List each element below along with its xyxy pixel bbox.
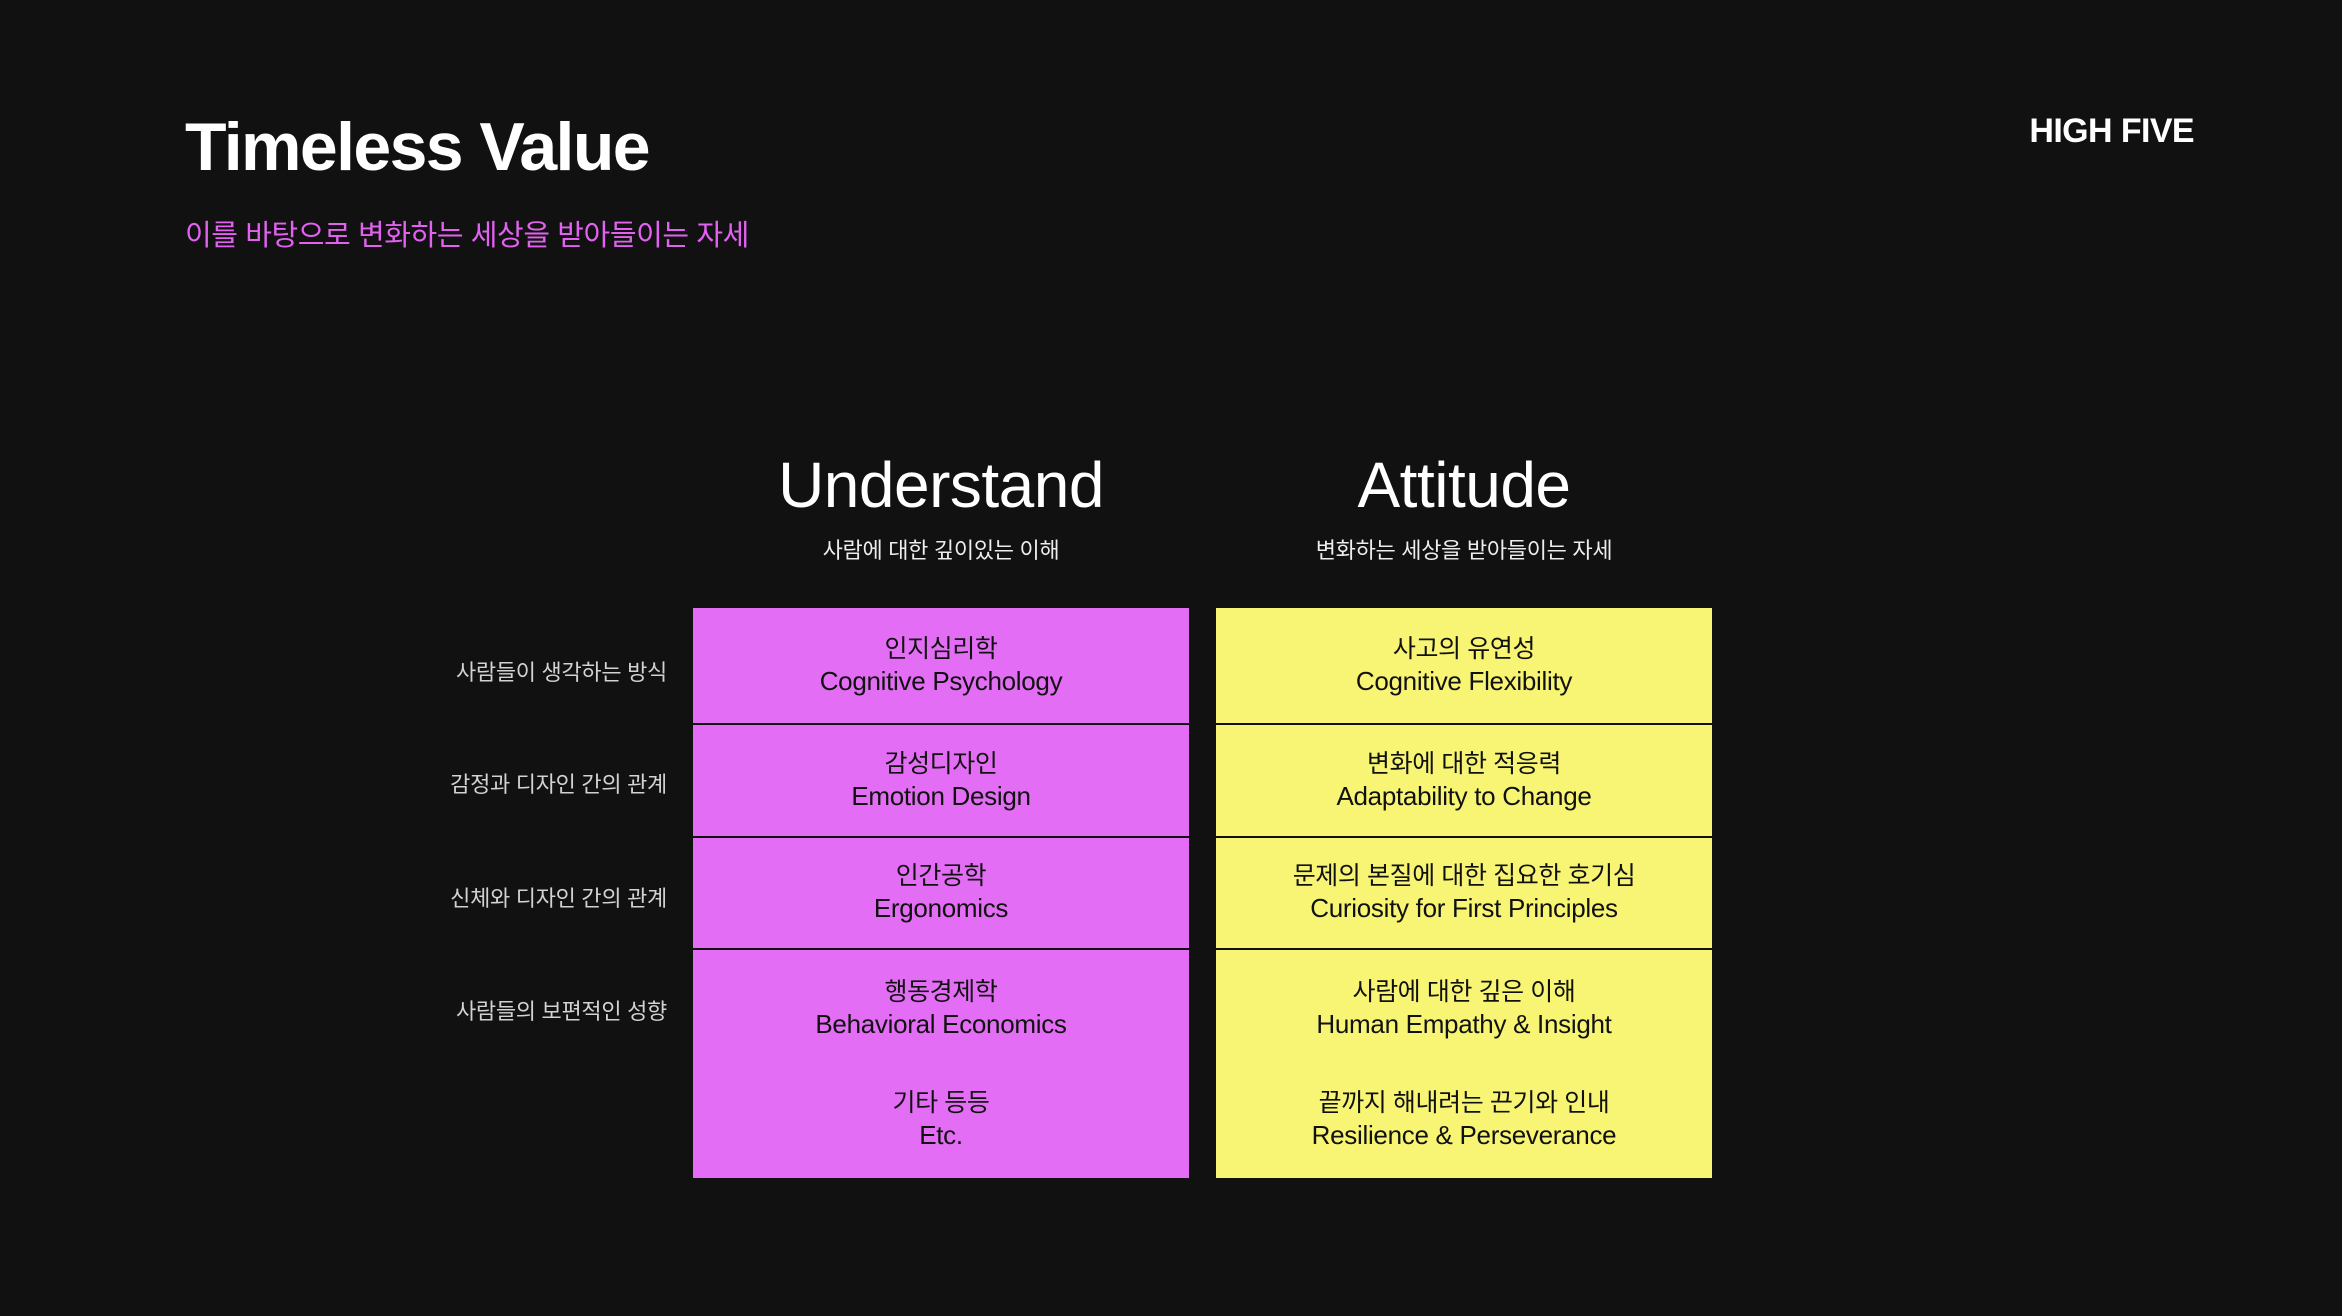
column-subtitle: 변화하는 세상을 받아들이는 자세 (1216, 533, 1712, 565)
cell-entry-korean: 문제의 본질에 대한 집요한 호기심 (1293, 860, 1636, 892)
matrix-cell[interactable]: 변화에 대한 적응력Adaptability to Change (1216, 725, 1712, 838)
cell-entry: 행동경제학Behavioral Economics (815, 976, 1066, 1041)
cell-entry-english: Etc. (893, 1119, 990, 1152)
cell-entry-korean: 감성디자인 (851, 748, 1030, 780)
cell-entry-korean: 인간공학 (874, 860, 1008, 892)
column-header-attitude: Attitude변화하는 세상을 받아들이는 자세 (1216, 452, 1712, 565)
row-label-2: 신체와 디자인 간의 관계 (450, 881, 667, 913)
cell-entry-english: Cognitive Psychology (820, 665, 1063, 698)
cell-entry: 끝까지 해내려는 끈기와 인내Resilience & Perseverance (1312, 1087, 1617, 1152)
cell-entry: 인간공학Ergonomics (874, 860, 1008, 925)
cell-entry: 기타 등등Etc. (893, 1087, 990, 1152)
cell-entry-english: Ergonomics (874, 892, 1008, 925)
cell-entry-korean: 끝까지 해내려는 끈기와 인내 (1312, 1087, 1617, 1119)
cell-entry-english: Adaptability to Change (1336, 780, 1591, 813)
cell-entry-english: Human Empathy & Insight (1316, 1008, 1611, 1041)
column-title: Attitude (1216, 452, 1712, 519)
matrix-cell[interactable]: 사람에 대한 깊은 이해Human Empathy & Insight끝까지 해… (1216, 950, 1712, 1178)
cell-entry-english: Emotion Design (851, 780, 1030, 813)
column-title: Understand (693, 452, 1189, 519)
cell-entry: 문제의 본질에 대한 집요한 호기심Curiosity for First Pr… (1293, 860, 1636, 925)
matrix-cell[interactable]: 행동경제학Behavioral Economics기타 등등Etc. (693, 950, 1189, 1178)
cell-entry-korean: 변화에 대한 적응력 (1336, 748, 1591, 780)
column-cells-understand: 인지심리학Cognitive Psychology감성디자인Emotion De… (693, 608, 1189, 1178)
cell-entry-english: Behavioral Economics (815, 1008, 1066, 1041)
matrix-cell[interactable]: 인간공학Ergonomics (693, 838, 1189, 950)
column-cells-attitude: 사고의 유연성Cognitive Flexibility변화에 대한 적응력Ad… (1216, 608, 1712, 1178)
cell-entry-korean: 인지심리학 (820, 633, 1063, 665)
cell-entry-english: Curiosity for First Principles (1293, 892, 1636, 925)
matrix-cell[interactable]: 인지심리학Cognitive Psychology (693, 608, 1189, 725)
row-label-1: 감정과 디자인 간의 관계 (450, 767, 667, 799)
matrix-cell[interactable]: 사고의 유연성Cognitive Flexibility (1216, 608, 1712, 725)
value-matrix: Understand사람에 대한 깊이있는 이해인지심리학Cognitive P… (0, 0, 2342, 1316)
cell-entry: 감성디자인Emotion Design (851, 748, 1030, 813)
column-subtitle: 사람에 대한 깊이있는 이해 (693, 533, 1189, 565)
row-label-3: 사람들의 보편적인 성향 (456, 994, 667, 1026)
cell-entry-korean: 기타 등등 (893, 1087, 990, 1119)
row-label-0: 사람들이 생각하는 방식 (456, 655, 667, 687)
cell-entry-english: Resilience & Perseverance (1312, 1119, 1617, 1152)
cell-entry-korean: 사고의 유연성 (1356, 633, 1572, 665)
cell-entry: 변화에 대한 적응력Adaptability to Change (1336, 748, 1591, 813)
slide-root: Timeless Value 이를 바탕으로 변화하는 세상을 받아들이는 자세… (0, 0, 2342, 1316)
cell-entry-korean: 행동경제학 (815, 976, 1066, 1008)
column-header-understand: Understand사람에 대한 깊이있는 이해 (693, 452, 1189, 565)
cell-entry: 사람에 대한 깊은 이해Human Empathy & Insight (1316, 976, 1611, 1041)
cell-entry: 인지심리학Cognitive Psychology (820, 633, 1063, 698)
cell-entry-korean: 사람에 대한 깊은 이해 (1316, 976, 1611, 1008)
cell-entry-english: Cognitive Flexibility (1356, 665, 1572, 698)
cell-entry: 사고의 유연성Cognitive Flexibility (1356, 633, 1572, 698)
matrix-cell[interactable]: 감성디자인Emotion Design (693, 725, 1189, 838)
matrix-cell[interactable]: 문제의 본질에 대한 집요한 호기심Curiosity for First Pr… (1216, 838, 1712, 950)
